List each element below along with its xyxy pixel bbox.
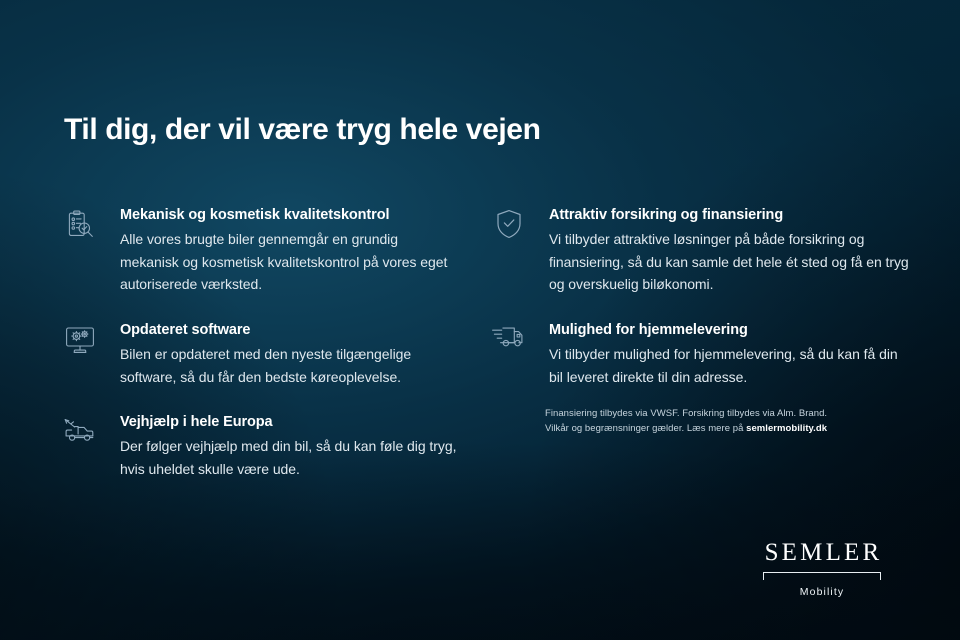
feature-item-updated-software: Opdateret software Bilen er opdateret me… [60, 320, 460, 388]
feature-title: Mulighed for hjemmelevering [549, 320, 909, 341]
feature-body: Der følger vejhjælp med din bil, så du k… [120, 435, 460, 480]
page-title: Til dig, der vil være tryg hele vejen [64, 112, 541, 148]
semlermobility-link[interactable]: semlermobility.dk [746, 423, 827, 434]
semler-mobility-logo: SEMLER Mobility [742, 540, 902, 598]
feature-item-quality-control: Mekanisk og kosmetisk kvalitetskontrol A… [60, 205, 460, 296]
fineprint-line-1: Finansiering tilbydes via VWSF. Forsikri… [545, 406, 885, 421]
feature-item-home-delivery: Mulighed for hjemmelevering Vi tilbyder … [489, 320, 909, 388]
feature-body: Bilen er opdateret med den nyeste tilgæn… [120, 343, 460, 388]
feature-body: Alle vores brugte biler gennemgår en gru… [120, 228, 460, 296]
logo-bracket-rule [763, 572, 881, 581]
feature-title: Vejhjælp i hele Europa [120, 412, 460, 433]
feature-item-insurance-financing: Attraktiv forsikring og finansiering Vi … [489, 205, 909, 296]
tow-truck-icon [60, 415, 100, 451]
legal-fineprint: Finansiering tilbydes via VWSF. Forsikri… [545, 406, 885, 436]
logo-wordmark: SEMLER [742, 540, 902, 565]
shield-check-icon [489, 208, 529, 244]
features-column-left: Mekanisk og kosmetisk kvalitetskontrol A… [60, 205, 460, 503]
feature-item-roadside-assistance: Vejhjælp i hele Europa Der følger vejhjæ… [60, 412, 460, 480]
feature-body: Vi tilbyder mulighed for hjemmelevering,… [549, 343, 909, 388]
fineprint-line-2: Vilkår og begrænsninger gælder. Læs mere… [545, 421, 885, 436]
delivery-truck-icon [489, 323, 529, 359]
features-column-right: Attraktiv forsikring og finansiering Vi … [489, 205, 909, 410]
presentation-slide: Til dig, der vil være tryg hele vejen [0, 0, 960, 640]
clipboard-magnifier-icon [60, 208, 100, 244]
monitor-gears-icon [60, 323, 100, 359]
feature-body: Vi tilbyder attraktive løsninger på både… [549, 228, 909, 296]
feature-title: Attraktiv forsikring og finansiering [549, 205, 909, 226]
logo-subtitle: Mobility [742, 586, 902, 598]
feature-title: Opdateret software [120, 320, 460, 341]
fineprint-line-2-text: Vilkår og begrænsninger gælder. Læs mere… [545, 423, 746, 434]
feature-title: Mekanisk og kosmetisk kvalitetskontrol [120, 205, 460, 226]
